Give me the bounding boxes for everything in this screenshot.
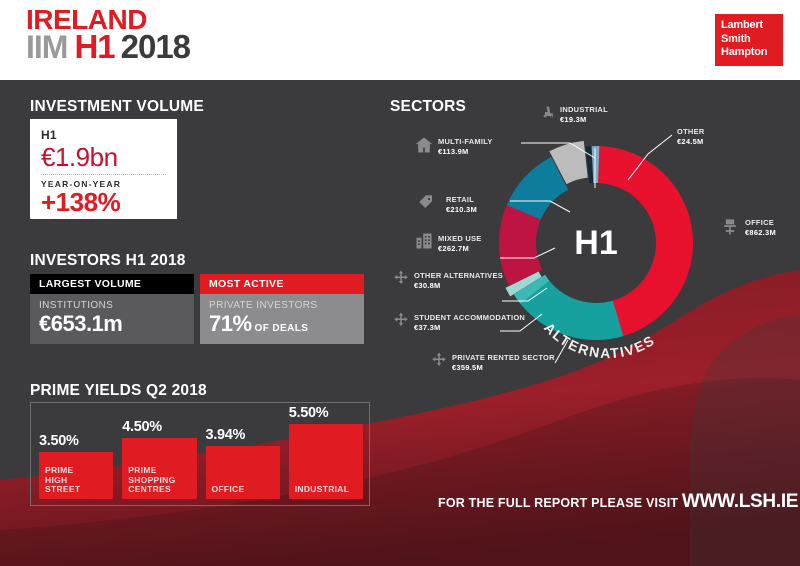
alternatives-icon <box>430 351 448 369</box>
alternatives-icon <box>392 269 410 287</box>
prime-yield-value: 4.50% <box>122 419 162 435</box>
forklift-icon <box>540 104 558 120</box>
title-h1: H1 <box>74 31 114 63</box>
tag-icon <box>416 193 436 211</box>
donut-label-retail: RETAIL€210.3M <box>446 195 477 214</box>
donut-label-private-rented-sector: PRIVATE RENTED SECTOR€359.5M <box>452 353 555 372</box>
logo-line-1: Lambert <box>721 19 777 33</box>
prime-yield-value: 5.50% <box>289 405 329 421</box>
donut-label-other-alternatives: OTHER ALTERNATIVES€30.8M <box>414 271 503 290</box>
investors-card-suffix: OF DEALS <box>255 323 309 334</box>
title-year: 2018 <box>121 31 190 63</box>
investors-heading: INVESTORS H1 2018 <box>30 252 186 270</box>
investors-card-most-active: MOST ACTIVE PRIVATE INVESTORS 71%OF DEAL… <box>200 274 364 344</box>
donut-label-office: OFFICE€862.3M <box>745 218 776 237</box>
investment-volume-amount: €1.9bn <box>41 143 166 171</box>
investors-card-value: €653.1m <box>39 311 122 336</box>
divider <box>41 174 166 175</box>
investors-card-title: MOST ACTIVE <box>200 274 364 294</box>
investors-card-body: INSTITUTIONS €653.1m <box>30 294 194 344</box>
investors-cards: LARGEST VOLUME INSTITUTIONS €653.1m MOST… <box>30 274 365 344</box>
prime-yields-chart: 3.50%PRIMEHIGHSTREET4.50%PRIMESHOPPINGCE… <box>30 402 370 506</box>
investors-card-subtitle: INSTITUTIONS <box>39 300 185 311</box>
prime-yield-label: OFFICE <box>212 485 277 495</box>
prime-yield-label: INDUSTRIAL <box>295 485 360 495</box>
alternatives-icon <box>392 311 410 329</box>
investment-volume-card: H1 €1.9bn YEAR-ON-YEAR +138% <box>30 119 177 219</box>
sectors-donut-chart: ALTERNATIVES H1 INDUSTRIAL€19.3M OTHER€2… <box>390 88 800 388</box>
investment-volume-period: H1 <box>41 128 166 142</box>
office-chair-icon <box>720 216 740 236</box>
investors-card-value: 71% <box>209 311 252 336</box>
prime-yield-bar: 4.50%PRIMESHOPPINGCENTRES <box>122 438 196 499</box>
donut-label-student-accommodation: STUDENT ACCOMMODATION€37.3M <box>414 313 525 332</box>
title-block: IRELAND IIM H1 2018 <box>26 7 190 63</box>
prime-yield-bar: 5.50%INDUSTRIAL <box>289 424 363 499</box>
investors-card-body: PRIVATE INVESTORS 71%OF DEALS <box>200 294 364 344</box>
donut-label-industrial: INDUSTRIAL€19.3M <box>560 105 608 124</box>
prime-yield-value: 3.50% <box>39 433 79 449</box>
prime-yields-bars: 3.50%PRIMEHIGHSTREET4.50%PRIMESHOPPINGCE… <box>39 411 363 499</box>
logo-line-2: Smith <box>721 33 777 47</box>
donut-label-other: OTHER€24.5M <box>677 127 705 146</box>
page-header: IRELAND IIM H1 2018 Lambert Smith Hampto… <box>0 0 800 80</box>
year-on-year-value: +138% <box>41 188 166 216</box>
buildings-icon <box>414 231 434 251</box>
prime-yield-bar: 3.94%OFFICE <box>206 446 280 499</box>
investors-card-title: LARGEST VOLUME <box>30 274 194 294</box>
donut-label-multi-family: MULTI-FAMILY€113.9M <box>438 137 493 156</box>
footer-cta: FOR THE FULL REPORT PLEASE VISIT WWW.LSH… <box>438 491 798 513</box>
prime-yield-bar: 3.50%PRIMEHIGHSTREET <box>39 452 113 499</box>
logo-line-3: Hampton <box>721 46 777 60</box>
footer-url[interactable]: WWW.LSH.IE <box>682 491 798 512</box>
investors-card-largest-volume: LARGEST VOLUME INSTITUTIONS €653.1m <box>30 274 194 344</box>
investment-volume-heading: INVESTMENT VOLUME <box>30 98 204 116</box>
donut-center-label: H1 <box>574 224 617 262</box>
prime-yield-value: 3.94% <box>206 427 246 443</box>
prime-yield-label: PRIMEHIGHSTREET <box>45 466 110 495</box>
lambert-smith-hampton-logo: Lambert Smith Hampton <box>715 14 783 66</box>
footer-cta-text: FOR THE FULL REPORT PLEASE VISIT <box>438 496 678 510</box>
title-iim: IIM <box>26 31 67 63</box>
investors-card-subtitle: PRIVATE INVESTORS <box>209 300 355 311</box>
prime-yield-label: PRIMESHOPPINGCENTRES <box>128 466 193 495</box>
donut-label-mixed-use: MIXED USE€262.7M <box>438 234 482 253</box>
prime-yields-heading: PRIME YIELDS Q2 2018 <box>30 382 207 400</box>
house-icon <box>414 135 434 155</box>
